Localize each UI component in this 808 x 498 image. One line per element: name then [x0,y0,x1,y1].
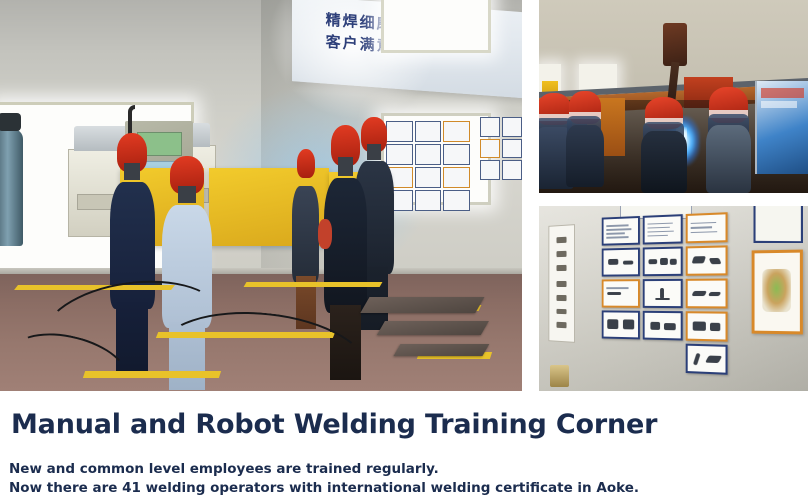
poster-sheet [502,160,522,180]
hall-poster-board-secondary [480,117,522,180]
person-neck [178,186,196,203]
framed-poster [602,216,640,246]
poster-sheet [415,190,442,211]
framed-poster [602,311,640,340]
photo-welding-training-hall: 精焊细磨： 客户满意！ [0,0,522,391]
red-hard-hat [297,149,315,178]
monitor-text-band [761,101,797,107]
photo-training-poster-wall [539,206,808,391]
gas-cylinder [0,129,23,246]
framed-poster [686,246,728,276]
steel-workpiece [361,297,485,313]
floor-marking-tape [244,282,383,287]
illustrated-safety-poster [752,250,803,335]
instruction-monitor [755,81,808,174]
framed-poster [686,212,728,243]
person-torso [292,186,319,282]
framed-poster [686,312,728,342]
monitor-headline-band [761,88,804,97]
notice-line [556,322,567,328]
steel-workpiece [393,344,489,356]
framed-poster-grid [602,212,728,375]
welder-person [566,91,604,188]
person-neck [338,157,354,176]
framed-poster [602,280,640,309]
right-upper-poster [754,206,803,244]
notice-line [556,251,567,257]
gas-cylinder-valve [0,113,21,132]
page-title: Manual and Robot Welding Training Corner [11,409,657,440]
hall-window-upper-right [381,0,491,53]
poster-sheet [480,139,500,159]
trainee-person [292,149,319,282]
framed-poster [643,279,683,308]
poster-sheet [415,144,442,165]
poster-illustration [762,269,791,313]
poster-sheet [443,144,470,165]
floor-object [550,365,569,387]
person-torso [566,125,604,187]
poster-sheet [415,167,442,188]
steel-workpiece [377,321,489,335]
framed-poster [602,248,640,277]
notice-line [556,281,567,287]
poster-sheet [443,167,470,188]
caption-block: Manual and Robot Welding Training Corner… [0,391,808,497]
poster-sheet [502,139,522,159]
hall-poster-board [386,121,470,211]
framed-poster [643,214,683,244]
poster-sheet [415,121,442,142]
person-torso [641,131,687,193]
notice-line [556,264,567,270]
poster-sheet [480,160,500,180]
person-neck [124,163,140,181]
framed-poster [643,311,683,341]
poster-sheet [443,190,470,211]
framed-poster [686,279,728,309]
framed-poster [686,344,728,375]
person-torso [706,125,752,193]
poster-sheet [443,121,470,142]
notice-line [556,237,567,243]
welding-robot-head [663,23,687,65]
welder-person [706,87,752,193]
notice-line [556,294,567,300]
page-subtitle: New and common level employees are train… [9,460,639,498]
poster-sheet [480,117,500,137]
welding-glove [318,219,333,249]
welder-person [641,97,687,194]
handwritten-notice [549,224,575,342]
poster-sheet [502,117,522,137]
person-neck [367,144,381,160]
photo-arc-welding-practice [539,0,808,193]
notice-line [556,308,567,314]
slide-root: 精焊细磨： 客户满意！ [0,0,808,497]
framed-poster [643,247,683,277]
